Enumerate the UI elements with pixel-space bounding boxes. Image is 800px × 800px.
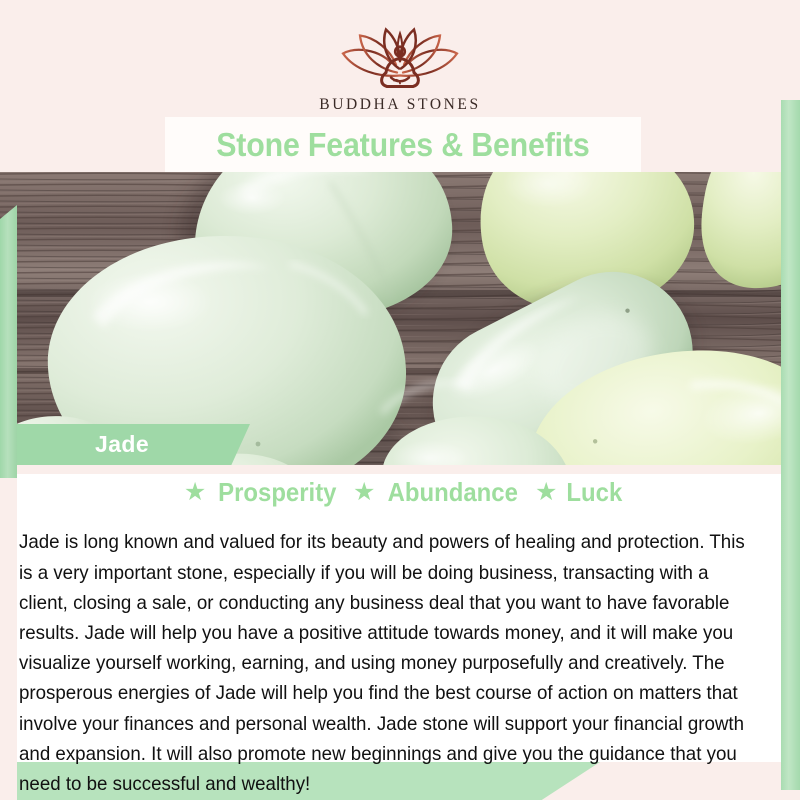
brand-header: BUDDHA STONES [0,16,800,114]
page-title: Stone Features & Benefits [216,126,589,164]
keyword-abundance: Abundance [388,477,518,508]
keyword-prosperity: Prosperity [218,477,336,508]
stone-name-ribbon: Jade [17,424,250,465]
right-accent-bar [781,100,800,790]
star-icon: ★ [184,480,206,505]
stone-photo [0,172,800,465]
stone-description: Jade is long known and valued for its be… [19,527,758,799]
stone-info-card: BUDDHA STONES [0,0,800,800]
lotus-meditation-icon [325,16,475,92]
stone-photo-graphic [0,172,800,465]
keyword-row: ★Prosperity★Abundance★Luck [17,477,781,508]
star-icon: ★ [353,480,375,505]
stone-name-label: Jade [95,431,149,458]
keyword-luck: Luck [567,477,623,508]
bottom-left-strip [0,762,17,800]
left-accent-bar [0,205,17,478]
star-icon: ★ [535,480,557,505]
title-plaque: Stone Features & Benefits [165,117,641,172]
brand-name: BUDDHA STONES [0,96,800,114]
